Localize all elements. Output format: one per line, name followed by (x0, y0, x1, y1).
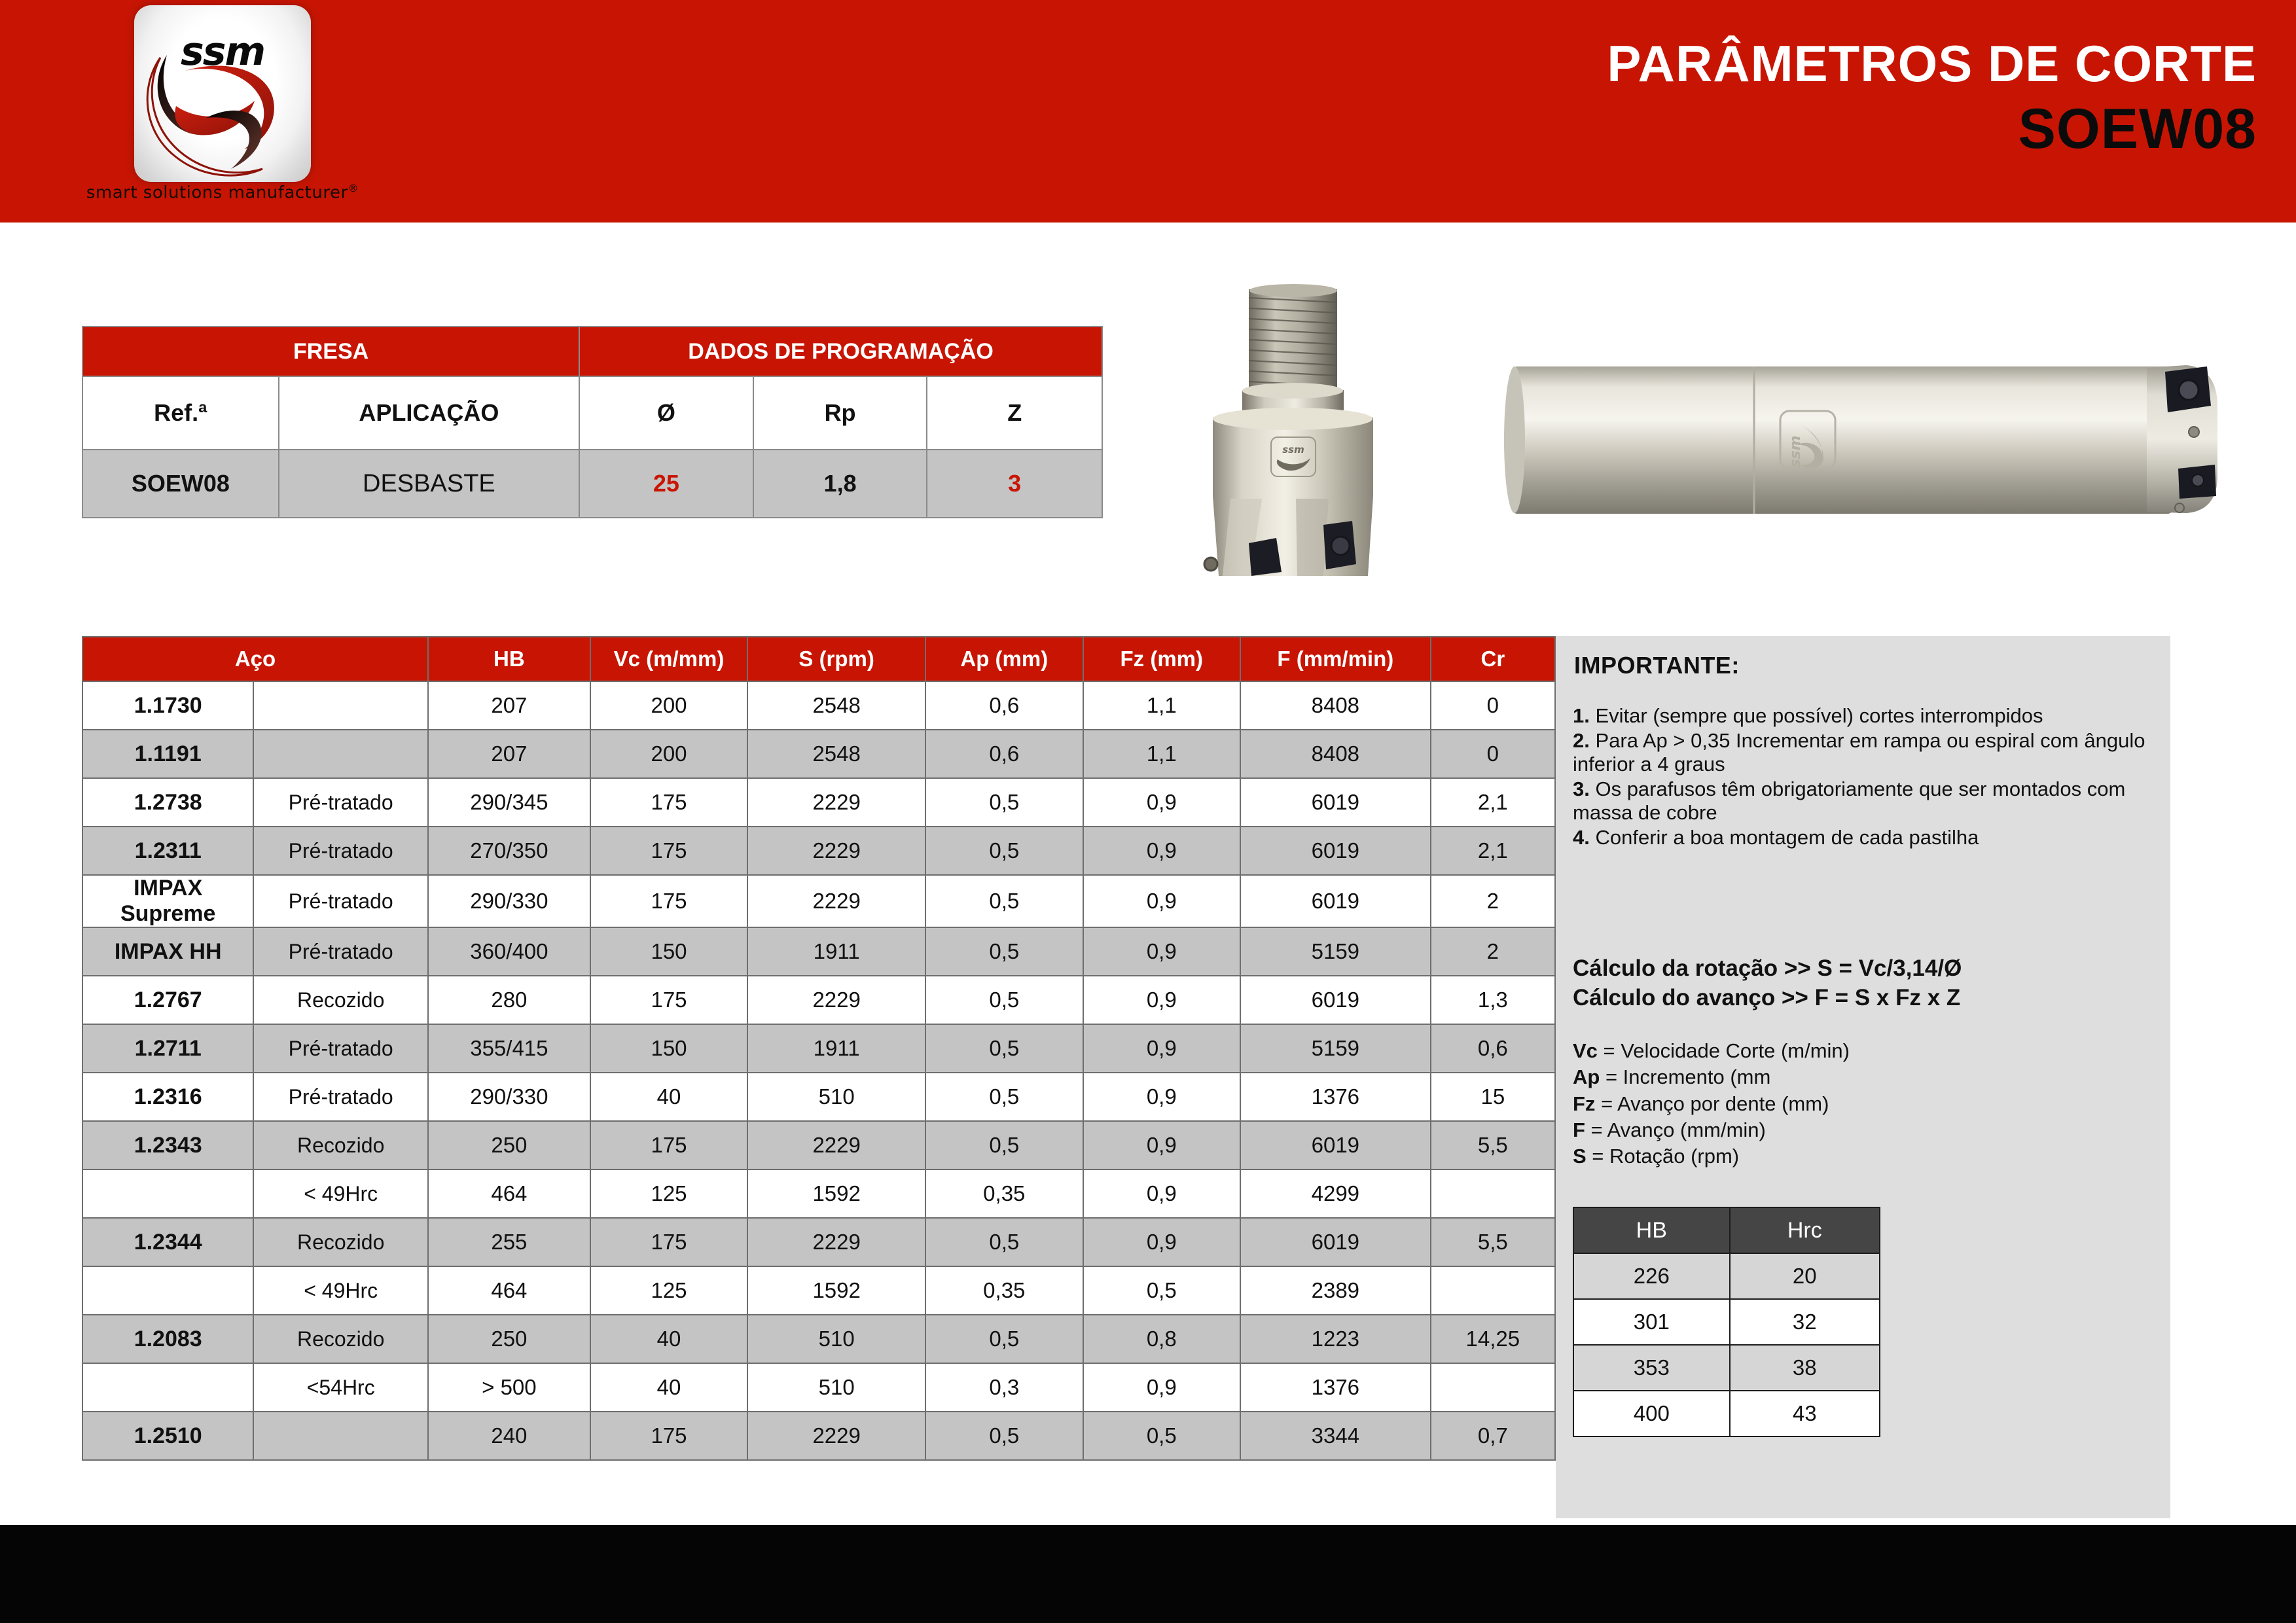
condition-cell (253, 1412, 428, 1460)
ap-cell: 0,5 (925, 1315, 1083, 1363)
table-row: 1.2767Recozido28017522290,50,960191,3 (82, 976, 1555, 1024)
vc-cell: 175 (590, 976, 747, 1024)
steel-cell: 1.2738 (82, 778, 253, 827)
cr-cell (1431, 1363, 1555, 1412)
ap-cell: 0,5 (925, 1073, 1083, 1121)
ap-cell: 0,5 (925, 827, 1083, 875)
vc-cell: 40 (590, 1363, 747, 1412)
legend-item: S = Rotação (rpm) (1573, 1143, 2162, 1169)
note-text: Evitar (sempre que possível) cortes inte… (1595, 704, 2043, 727)
hardness-conversion-table: HB Hrc 22620301323533840043 (1573, 1207, 1880, 1437)
s-cell: 2229 (747, 827, 925, 875)
note-number: 3. (1573, 777, 1595, 800)
shell-mill-head-photo: ssm (1172, 268, 1486, 596)
condition-cell: Pré-tratado (253, 927, 428, 976)
vc-cell: 125 (590, 1169, 747, 1218)
svg-text:ssm: ssm (1787, 435, 1804, 467)
ap-cell: 0,6 (925, 681, 1083, 730)
f-cell: 4299 (1240, 1169, 1431, 1218)
cutting-parameters-table: Aço HB Vc (m/mm) S (rpm) Ap (mm) Fz (mm)… (82, 636, 1556, 1461)
legend-item: Ap = Incremento (mm (1573, 1064, 2162, 1090)
steel-cell: IMPAX Supreme (82, 875, 253, 927)
f-cell: 8408 (1240, 730, 1431, 778)
steel-cell: 1.1730 (82, 681, 253, 730)
fz-cell: 0,9 (1083, 1169, 1240, 1218)
note-item: 1. Evitar (sempre que possível) cortes i… (1573, 704, 2162, 728)
hardness-row: 35338 (1573, 1345, 1880, 1391)
page-footer-bar (0, 1525, 2296, 1623)
cr-cell: 2 (1431, 875, 1555, 927)
legend-symbol: Fz (1573, 1092, 1595, 1115)
legend-item: F = Avanço (mm/min) (1573, 1117, 2162, 1143)
fz-cell: 0,5 (1083, 1412, 1240, 1460)
condition-cell: Recozido (253, 976, 428, 1024)
legend-item: Fz = Avanço por dente (mm) (1573, 1091, 2162, 1117)
fresa-group-label: FRESA (82, 327, 579, 376)
condition-cell: Pré-tratado (253, 827, 428, 875)
fz-cell: 0,9 (1083, 927, 1240, 976)
vc-cell: 175 (590, 1121, 747, 1169)
table-row: 1.2316Pré-tratado290/330405100,50,913761… (82, 1073, 1555, 1121)
ap-cell: 0,35 (925, 1266, 1083, 1315)
legend-symbol: S (1573, 1145, 1587, 1168)
ap-cell: 0,5 (925, 976, 1083, 1024)
vc-cell: 175 (590, 778, 747, 827)
hb-cell: 290/330 (428, 1073, 590, 1121)
cr-cell: 2,1 (1431, 778, 1555, 827)
hb-value: 226 (1573, 1253, 1730, 1299)
fresa-data-row: SOEW08 DESBASTE 25 1,8 3 (82, 450, 1102, 518)
condition-cell: < 49Hrc (253, 1169, 428, 1218)
panel-title: IMPORTANTE: (1574, 652, 1740, 679)
ap-cell: 0,5 (925, 778, 1083, 827)
ap-cell: 0,5 (925, 1218, 1083, 1266)
s-cell: 2229 (747, 875, 925, 927)
hb-cell: 240 (428, 1412, 590, 1460)
hb-value: 301 (1573, 1299, 1730, 1345)
legend-definition: = Velocidade Corte (m/min) (1598, 1039, 1850, 1062)
condition-cell: <54Hrc (253, 1363, 428, 1412)
col-header-cr: Cr (1431, 637, 1555, 681)
fresa-z-value: 3 (927, 450, 1102, 518)
hb-value: 353 (1573, 1345, 1730, 1391)
hb-cell: 250 (428, 1315, 590, 1363)
hardness-header-row: HB Hrc (1573, 1207, 1880, 1253)
hb-cell: 290/345 (428, 778, 590, 827)
fresa-group-header-row: FRESA DADOS DE PROGRAMAÇÃO (82, 327, 1102, 376)
fresa-table: FRESA DADOS DE PROGRAMAÇÃO Ref.ª APLICAÇ… (82, 326, 1103, 518)
f-cell: 5159 (1240, 1024, 1431, 1073)
f-cell: 1223 (1240, 1315, 1431, 1363)
note-text: Os parafusos têm obrigatoriamente que se… (1573, 777, 2125, 824)
hardness-table-body: 22620301323533840043 (1573, 1253, 1880, 1436)
col-header-vc: Vc (m/mm) (590, 637, 747, 681)
cr-cell: 2 (1431, 927, 1555, 976)
table-row: 1.2344Recozido25517522290,50,960195,5 (82, 1218, 1555, 1266)
table-row: 1.2738Pré-tratado290/34517522290,50,9601… (82, 778, 1555, 827)
cr-cell: 14,25 (1431, 1315, 1555, 1363)
hrc-value: 20 (1730, 1253, 1880, 1299)
f-cell: 3344 (1240, 1412, 1431, 1460)
s-cell: 1592 (747, 1266, 925, 1315)
hb-cell: 270/350 (428, 827, 590, 875)
table-row: 1.119120720025480,61,184080 (82, 730, 1555, 778)
fz-cell: 0,9 (1083, 976, 1240, 1024)
vc-cell: 175 (590, 1218, 747, 1266)
s-cell: 510 (747, 1073, 925, 1121)
ap-cell: 0,3 (925, 1363, 1083, 1412)
cr-cell: 2,1 (1431, 827, 1555, 875)
table-row: <54Hrc> 500405100,30,91376 (82, 1363, 1555, 1412)
s-cell: 2229 (747, 1412, 925, 1460)
fresa-aplicacao-value: DESBASTE (279, 450, 579, 518)
main-table-body: 1.173020720025480,61,1840801.11912072002… (82, 681, 1555, 1460)
ap-cell: 0,6 (925, 730, 1083, 778)
col-header-hb-conv: HB (1573, 1207, 1730, 1253)
fz-cell: 1,1 (1083, 681, 1240, 730)
hb-value: 400 (1573, 1391, 1730, 1436)
hb-cell: > 500 (428, 1363, 590, 1412)
vc-cell: 175 (590, 875, 747, 927)
s-cell: 1911 (747, 1024, 925, 1073)
vc-cell: 200 (590, 681, 747, 730)
note-item: 3. Os parafusos têm obrigatoriamente que… (1573, 777, 2162, 825)
legend-block: Vc = Velocidade Corte (m/min)Ap = Increm… (1573, 1038, 2162, 1169)
f-cell: 8408 (1240, 681, 1431, 730)
condition-cell: Pré-tratado (253, 1073, 428, 1121)
legend-symbol: Vc (1573, 1039, 1598, 1062)
vc-cell: 150 (590, 1024, 747, 1073)
programming-group-label: DADOS DE PROGRAMAÇÃO (579, 327, 1102, 376)
page-header: ssm smart solutions manufacturer® PARÂME (0, 0, 2296, 223)
note-number: 2. (1573, 729, 1595, 752)
product-code: SOEW08 (2018, 97, 2257, 162)
cr-cell (1431, 1266, 1555, 1315)
hb-cell: 360/400 (428, 927, 590, 976)
fresa-rp-value: 1,8 (753, 450, 927, 518)
col-header-hrc-conv: Hrc (1730, 1207, 1880, 1253)
legend-definition: = Avanço por dente (mm) (1595, 1092, 1829, 1115)
hb-cell: 355/415 (428, 1024, 590, 1073)
fz-cell: 0,9 (1083, 875, 1240, 927)
legend-definition: = Avanço (mm/min) (1585, 1118, 1766, 1141)
hb-cell: 464 (428, 1169, 590, 1218)
col-header-aplicacao: APLICAÇÃO (279, 376, 579, 450)
hb-cell: 255 (428, 1218, 590, 1266)
col-header-ap: Ap (mm) (925, 637, 1083, 681)
fresa-diameter-value: 25 (579, 450, 753, 518)
legend-definition: = Incremento (mm (1600, 1065, 1770, 1088)
table-row: < 49Hrc46412515920,350,52389 (82, 1266, 1555, 1315)
condition-cell (253, 730, 428, 778)
legend-symbol: F (1573, 1118, 1585, 1141)
col-header-f: F (mm/min) (1240, 637, 1431, 681)
hb-cell: 290/330 (428, 875, 590, 927)
table-row: 1.251024017522290,50,533440,7 (82, 1412, 1555, 1460)
f-cell: 1376 (1240, 1073, 1431, 1121)
col-header-z: Z (927, 376, 1102, 450)
condition-cell: Recozido (253, 1315, 428, 1363)
steel-cell (82, 1266, 253, 1315)
notes-list: 1. Evitar (sempre que possível) cortes i… (1573, 704, 2162, 851)
col-header-rp: Rp (753, 376, 927, 450)
fz-cell: 0,9 (1083, 1073, 1240, 1121)
table-row: IMPAX SupremePré-tratado290/33017522290,… (82, 875, 1555, 927)
s-cell: 2229 (747, 1218, 925, 1266)
steel-cell: 1.2316 (82, 1073, 253, 1121)
f-cell: 6019 (1240, 778, 1431, 827)
condition-cell: Pré-tratado (253, 778, 428, 827)
legend-definition: = Rotação (rpm) (1587, 1145, 1739, 1168)
page-title: PARÂMETROS DE CORTE (1607, 34, 2257, 94)
hb-cell: 464 (428, 1266, 590, 1315)
cr-cell: 0,6 (1431, 1024, 1555, 1073)
steel-cell: 1.2767 (82, 976, 253, 1024)
steel-cell: 1.2711 (82, 1024, 253, 1073)
col-header-aco: Aço (82, 637, 428, 681)
hardness-row: 30132 (1573, 1299, 1880, 1345)
note-text: Para Ap > 0,35 Incrementar em rampa ou e… (1573, 729, 2145, 776)
fz-cell: 1,1 (1083, 730, 1240, 778)
steel-cell: 1.2510 (82, 1412, 253, 1460)
fz-cell: 0,8 (1083, 1315, 1240, 1363)
vc-cell: 200 (590, 730, 747, 778)
hrc-value: 32 (1730, 1299, 1880, 1345)
ap-cell: 0,5 (925, 1024, 1083, 1073)
f-cell: 6019 (1240, 875, 1431, 927)
steel-cell (82, 1363, 253, 1412)
datasheet-page: ssm smart solutions manufacturer® PARÂME (0, 0, 2296, 1623)
hardness-row: 40043 (1573, 1391, 1880, 1436)
table-row: 1.2083Recozido250405100,50,8122314,25 (82, 1315, 1555, 1363)
col-header-s: S (rpm) (747, 637, 925, 681)
col-header-ref: Ref.ª (82, 376, 279, 450)
fz-cell: 0,9 (1083, 1218, 1240, 1266)
condition-cell: Pré-tratado (253, 875, 428, 927)
cr-cell: 0 (1431, 681, 1555, 730)
ap-cell: 0,35 (925, 1169, 1083, 1218)
cr-cell: 0,7 (1431, 1412, 1555, 1460)
cr-cell: 15 (1431, 1073, 1555, 1121)
cr-cell: 5,5 (1431, 1121, 1555, 1169)
cr-cell: 1,3 (1431, 976, 1555, 1024)
formulas-block: Cálculo da rotação >> S = Vc/3,14/ØCálcu… (1573, 954, 2162, 1013)
table-row: 1.2343Recozido25017522290,50,960195,5 (82, 1121, 1555, 1169)
fz-cell: 0,9 (1083, 1121, 1240, 1169)
hardness-row: 22620 (1573, 1253, 1880, 1299)
note-item: 4. Conferir a boa montagem de cada pasti… (1573, 826, 2162, 849)
ap-cell: 0,5 (925, 1121, 1083, 1169)
fresa-ref-value: SOEW08 (82, 450, 279, 518)
important-panel: IMPORTANTE: 1. Evitar (sempre que possív… (1556, 636, 2170, 1518)
steel-cell: 1.2083 (82, 1315, 253, 1363)
note-item: 2. Para Ap > 0,35 Incrementar em rampa o… (1573, 729, 2162, 776)
f-cell: 2389 (1240, 1266, 1431, 1315)
col-header-diameter: Ø (579, 376, 753, 450)
table-row: IMPAX HHPré-tratado360/40015019110,50,95… (82, 927, 1555, 976)
note-text: Conferir a boa montagem de cada pastilha (1595, 826, 1979, 849)
main-table-header-row: Aço HB Vc (m/mm) S (rpm) Ap (mm) Fz (mm)… (82, 637, 1555, 681)
steel-cell: 1.1191 (82, 730, 253, 778)
legend-symbol: Ap (1573, 1065, 1600, 1088)
hb-cell: 207 (428, 730, 590, 778)
f-cell: 6019 (1240, 827, 1431, 875)
ssm-logo: ssm (134, 5, 311, 182)
ap-cell: 0,5 (925, 1412, 1083, 1460)
ap-cell: 0,5 (925, 927, 1083, 976)
s-cell: 510 (747, 1315, 925, 1363)
logo-tagline: smart solutions manufacturer® (65, 182, 380, 203)
legend-item: Vc = Velocidade Corte (m/min) (1573, 1038, 2162, 1064)
formula-line: Cálculo da rotação >> S = Vc/3,14/Ø (1573, 954, 2162, 984)
fresa-column-header-row: Ref.ª APLICAÇÃO Ø Rp Z (82, 376, 1102, 450)
fz-cell: 0,9 (1083, 1024, 1240, 1073)
note-number: 1. (1573, 704, 1595, 727)
s-cell: 1911 (747, 927, 925, 976)
steel-cell: 1.2311 (82, 827, 253, 875)
cr-cell (1431, 1169, 1555, 1218)
hb-cell: 250 (428, 1121, 590, 1169)
col-header-fz: Fz (mm) (1083, 637, 1240, 681)
hb-cell: 207 (428, 681, 590, 730)
fz-cell: 0,9 (1083, 1363, 1240, 1412)
note-number: 4. (1573, 826, 1595, 849)
table-row: 1.2711Pré-tratado355/41515019110,50,9515… (82, 1024, 1555, 1073)
vc-cell: 40 (590, 1073, 747, 1121)
cr-cell: 0 (1431, 730, 1555, 778)
steel-cell: 1.2343 (82, 1121, 253, 1169)
fz-cell: 0,9 (1083, 778, 1240, 827)
f-cell: 6019 (1240, 1218, 1431, 1266)
svg-text:ssm: ssm (1282, 444, 1304, 455)
steel-cell (82, 1169, 253, 1218)
formula-line: Cálculo do avanço >> F = S x Fz x Z (1573, 984, 2162, 1013)
ap-cell: 0,5 (925, 875, 1083, 927)
vc-cell: 175 (590, 827, 747, 875)
condition-cell (253, 681, 428, 730)
fz-cell: 0,9 (1083, 827, 1240, 875)
indexable-end-mill-photo: ssm (1492, 340, 2245, 537)
s-cell: 510 (747, 1363, 925, 1412)
cr-cell: 5,5 (1431, 1218, 1555, 1266)
f-cell: 5159 (1240, 927, 1431, 976)
steel-cell: 1.2344 (82, 1218, 253, 1266)
s-cell: 2229 (747, 778, 925, 827)
vc-cell: 125 (590, 1266, 747, 1315)
condition-cell: Recozido (253, 1218, 428, 1266)
vc-cell: 40 (590, 1315, 747, 1363)
table-row: < 49Hrc46412515920,350,94299 (82, 1169, 1555, 1218)
vc-cell: 150 (590, 927, 747, 976)
table-row: 1.2311Pré-tratado270/35017522290,50,9601… (82, 827, 1555, 875)
col-header-hb: HB (428, 637, 590, 681)
f-cell: 6019 (1240, 1121, 1431, 1169)
s-cell: 2229 (747, 1121, 925, 1169)
s-cell: 2548 (747, 681, 925, 730)
condition-cell: Pré-tratado (253, 1024, 428, 1073)
hb-cell: 280 (428, 976, 590, 1024)
condition-cell: < 49Hrc (253, 1266, 428, 1315)
fz-cell: 0,5 (1083, 1266, 1240, 1315)
f-cell: 6019 (1240, 976, 1431, 1024)
vc-cell: 175 (590, 1412, 747, 1460)
s-cell: 1592 (747, 1169, 925, 1218)
hrc-value: 38 (1730, 1345, 1880, 1391)
table-row: 1.173020720025480,61,184080 (82, 681, 1555, 730)
s-cell: 2229 (747, 976, 925, 1024)
hrc-value: 43 (1730, 1391, 1880, 1436)
s-cell: 2548 (747, 730, 925, 778)
condition-cell: Recozido (253, 1121, 428, 1169)
swoosh-icon (138, 41, 307, 182)
steel-cell: IMPAX HH (82, 927, 253, 976)
f-cell: 1376 (1240, 1363, 1431, 1412)
